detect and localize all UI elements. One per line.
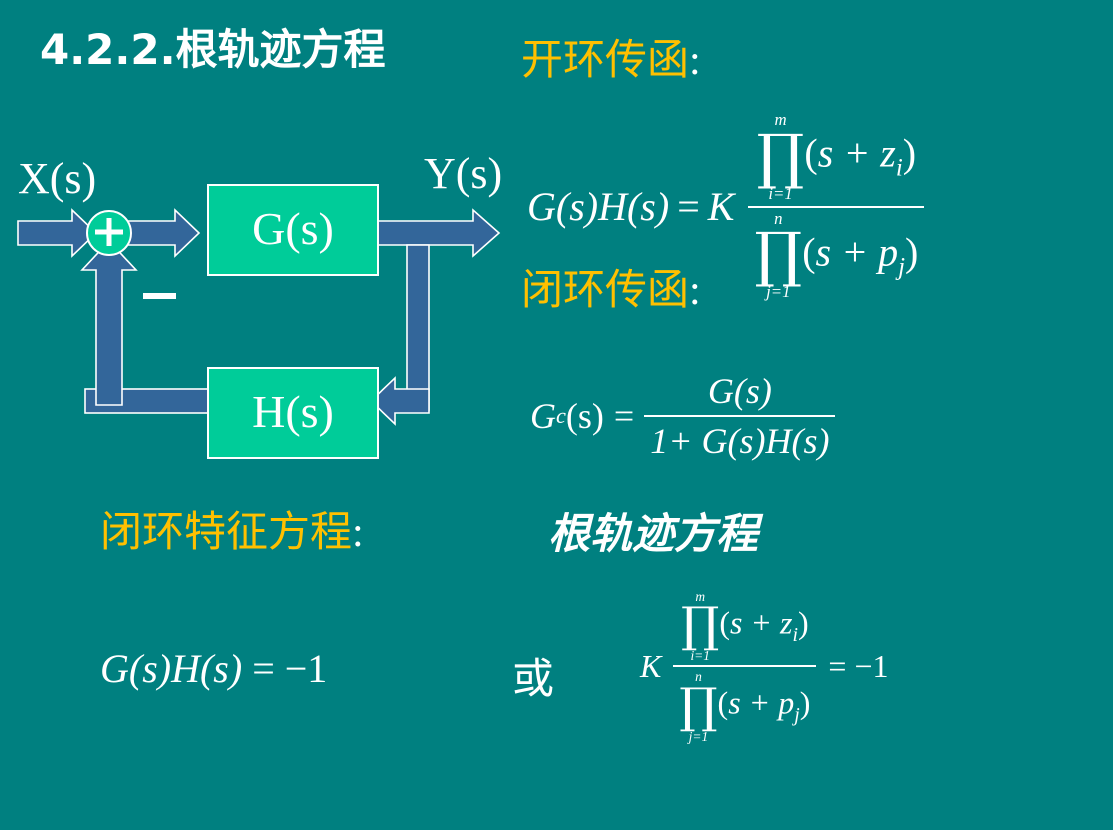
numerator-paren-close: ): [903, 130, 916, 175]
sum-to-g-arrow: [123, 210, 199, 256]
char-eq-product-fraction-bar: [673, 665, 816, 667]
denominator-paren-close: ): [800, 685, 811, 721]
char-eq-heading-text: 闭环特征方程: [100, 507, 352, 556]
root-locus-equation-label: 根轨迹方程: [548, 500, 758, 561]
numerator-paren-open: (: [804, 130, 817, 175]
product-symbol-icon: ∏: [681, 603, 719, 649]
denominator-term: s + p: [728, 685, 794, 721]
numerator-paren-open: (: [719, 605, 730, 641]
numerator-term: s + z: [818, 130, 896, 175]
closed-loop-heading-text: 闭环传函: [521, 265, 689, 314]
char-eq-heading-colon: :: [352, 510, 364, 556]
open-loop-fraction-bar: [748, 206, 924, 208]
open-loop-lhs: G(s)H(s): [527, 183, 669, 230]
closed-loop-heading-colon: :: [689, 268, 701, 314]
open-loop-heading-colon: :: [689, 38, 701, 84]
char-eq-simple-rhs: −1: [285, 645, 328, 692]
denominator-paren-open: (: [718, 685, 729, 721]
open-loop-denominator: n ∏ j=1 (s + pj): [748, 211, 924, 302]
char-eq-product-equals: =: [828, 648, 846, 685]
closed-loop-denominator: 1+ G(s)H(s): [644, 420, 835, 462]
numerator-term-subscript: i: [896, 154, 903, 181]
numerator-product-operator: m ∏ i=1: [757, 112, 805, 203]
char-eq-simple-equals: =: [252, 645, 275, 692]
char-eq-product-gain: K: [640, 648, 661, 685]
char-eq-simple: G(s)H(s) = −1: [100, 645, 327, 692]
denominator-product-operator: n ∏ j=1: [679, 670, 717, 742]
char-eq-product-rhs: −1: [854, 648, 888, 685]
closed-loop-fraction: G(s) 1+ G(s)H(s): [644, 370, 835, 462]
char-eq-product-denominator: n ∏ j=1 (s + pj): [673, 670, 816, 742]
numerator-paren-close: ): [798, 605, 809, 641]
input-signal-label: X(s): [18, 153, 96, 204]
output-takeoff-line: [407, 245, 429, 410]
char-eq-simple-lhs: G(s)H(s): [100, 645, 242, 692]
page-title: 4.2.2.根轨迹方程: [40, 16, 386, 77]
closed-loop-equation: Gc(s) = G(s) 1+ G(s)H(s): [530, 370, 835, 462]
closed-loop-equals: =: [614, 395, 634, 437]
feedback-block-label: H(s): [252, 386, 334, 437]
denominator-product-operator: n ∏ j=1: [754, 211, 802, 302]
char-eq-heading: 闭环特征方程:: [100, 498, 364, 559]
denominator-paren-close: ): [905, 229, 918, 274]
denominator-paren-open: (: [802, 229, 815, 274]
output-signal-label: Y(s): [424, 148, 502, 199]
closed-loop-lhs: G: [530, 395, 556, 437]
forward-block-label: G(s): [252, 203, 334, 254]
open-loop-heading: 开环传函:: [521, 26, 701, 87]
closed-loop-lhs-subscript: c: [556, 403, 566, 429]
slide-canvas: 4.2.2.根轨迹方程 开环传函: G(s)H(s) = K m ∏ i=1 (…: [0, 0, 1113, 830]
char-eq-product: K m ∏ i=1 (s + zi) n ∏ j=1: [640, 590, 889, 743]
closed-loop-fraction-bar: [644, 415, 835, 417]
plus-icon-vertical: [107, 218, 112, 246]
open-loop-heading-text: 开环传函: [521, 35, 689, 84]
open-loop-fraction: m ∏ i=1 (s + zi) n ∏ j=1 (s + pj): [748, 112, 924, 301]
char-eq-product-numerator: m ∏ i=1 (s + zi): [673, 590, 816, 662]
closed-loop-lhs-arg: (s): [566, 395, 604, 437]
open-loop-numerator: m ∏ i=1 (s + zi): [748, 112, 924, 203]
closed-loop-numerator: G(s): [644, 370, 835, 412]
open-loop-equals: =: [677, 183, 700, 230]
numerator-product-operator: m ∏ i=1: [681, 590, 719, 662]
char-eq-product-fraction: m ∏ i=1 (s + zi) n ∏ j=1 (s + pj): [673, 590, 816, 743]
input-arrow: [18, 210, 96, 256]
numerator-term: s + z: [730, 605, 793, 641]
or-conjunction: 或: [512, 645, 554, 706]
g-to-output-arrow: [378, 210, 499, 256]
feedback-up-arrow: [82, 241, 136, 405]
denominator-term: s + p: [816, 229, 899, 274]
product-symbol-icon: ∏: [679, 684, 717, 730]
product-symbol-icon: ∏: [757, 129, 805, 186]
denominator-term-subscript: j: [898, 253, 905, 280]
product-symbol-icon: ∏: [754, 227, 802, 284]
closed-loop-heading: 闭环传函:: [521, 256, 701, 317]
negative-sign-icon: [143, 293, 176, 299]
open-loop-gain: K: [708, 183, 735, 230]
